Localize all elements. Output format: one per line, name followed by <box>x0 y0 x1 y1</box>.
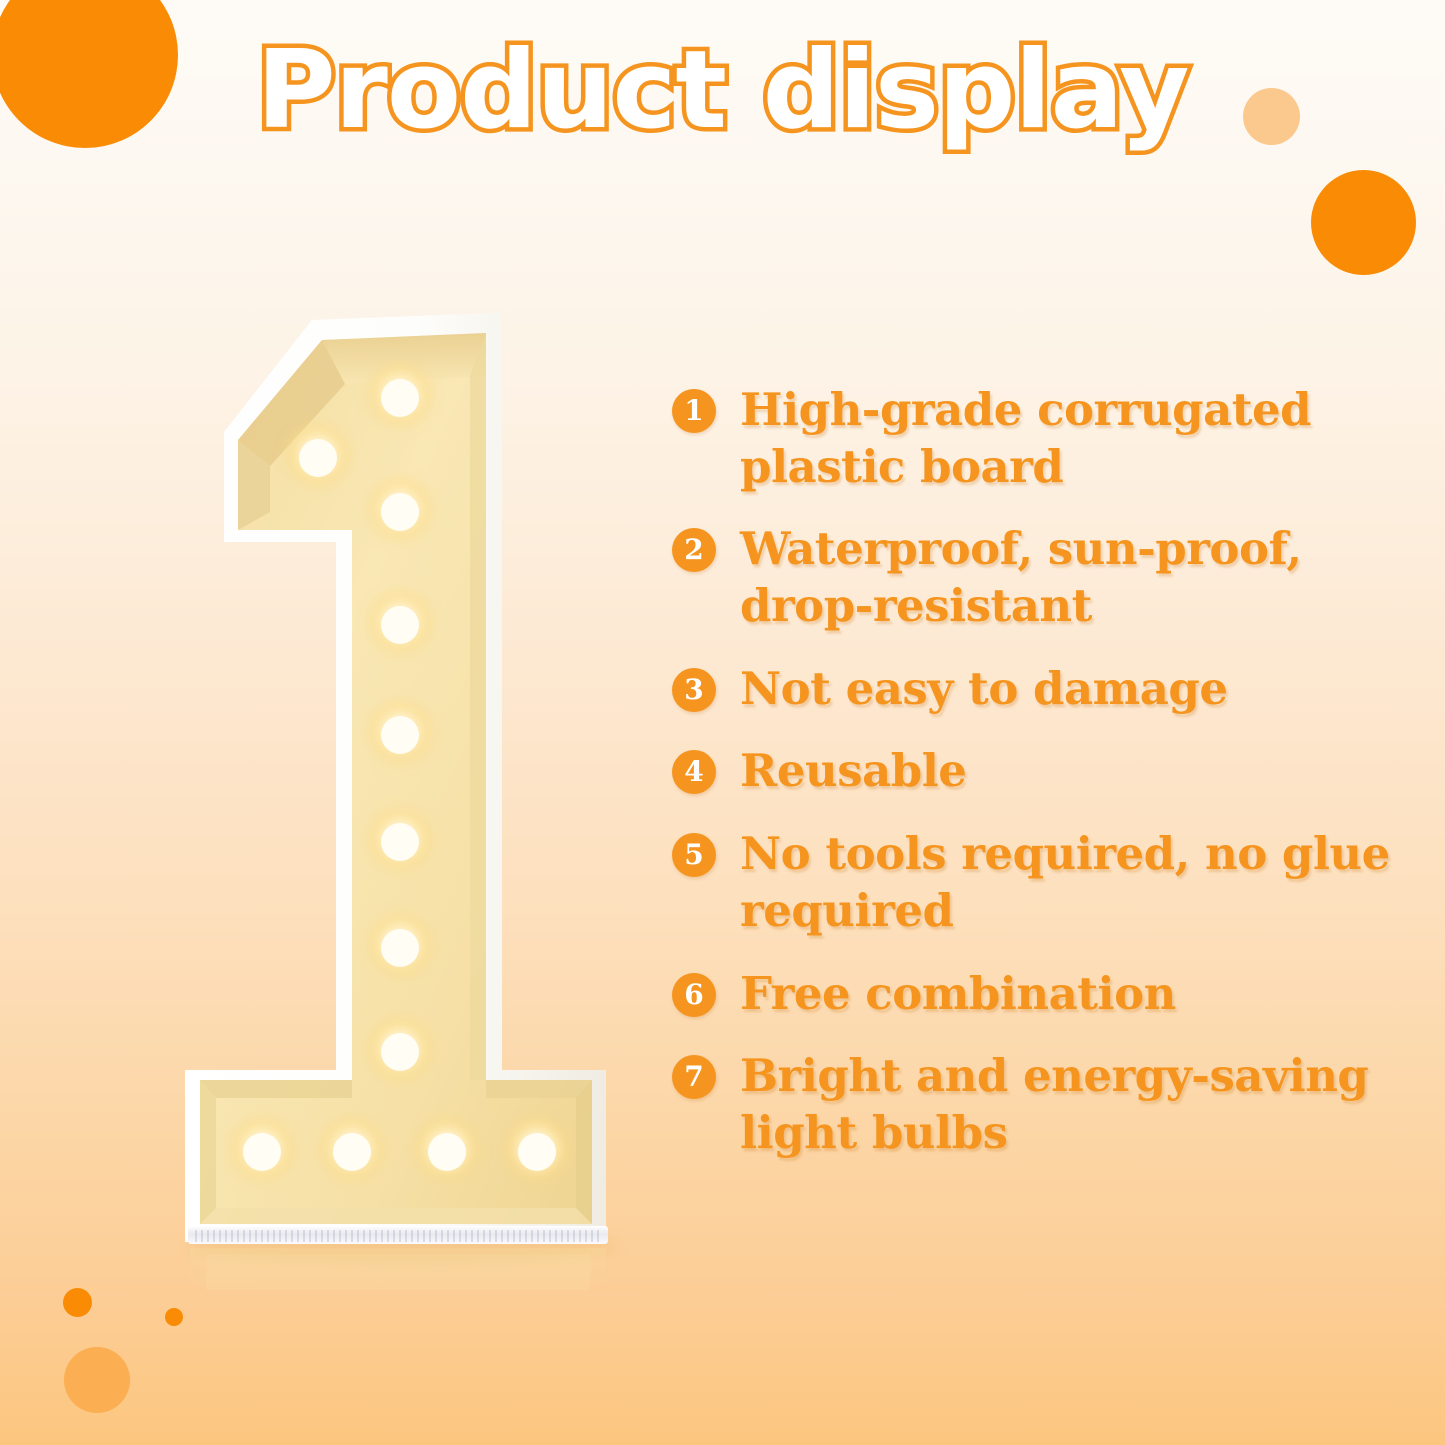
feature-number-badge: 6 <box>672 973 716 1017</box>
bulb <box>228 1118 296 1186</box>
bulb <box>366 808 434 876</box>
feature-number-badge: 2 <box>672 528 716 572</box>
bulb <box>366 701 434 769</box>
bulb <box>318 1118 386 1186</box>
feature-text: High-grade corrugated plastic board <box>740 382 1412 495</box>
decorative-circle-bottom-left-large <box>64 1347 130 1413</box>
product-reflection <box>190 1248 606 1290</box>
list-item: 4 Reusable <box>672 743 1412 800</box>
product-image-marquee-number-1 <box>140 280 660 1290</box>
feature-number-badge: 4 <box>672 750 716 794</box>
product-display-poster: Product display <box>0 0 1445 1445</box>
bulb <box>284 424 352 492</box>
feature-number-badge: 7 <box>672 1055 716 1099</box>
bulb <box>503 1118 571 1186</box>
feature-text: Not easy to damage <box>740 661 1412 718</box>
list-item: 3 Not easy to damage <box>672 661 1412 718</box>
page-title: Product display <box>0 34 1445 147</box>
list-item: 1 High-grade corrugated plastic board <box>672 382 1412 495</box>
bulb <box>366 914 434 982</box>
decorative-circle-bottom-left-tiny <box>165 1308 183 1326</box>
feature-number-badge: 1 <box>672 389 716 433</box>
bulb <box>366 591 434 659</box>
feature-list: 1 High-grade corrugated plastic board 2 … <box>672 382 1412 1188</box>
feature-text: Reusable <box>740 743 1412 800</box>
corrugated-edge-strip <box>188 1226 608 1244</box>
bulb <box>366 364 434 432</box>
feature-text: Bright and energy-saving light bulbs <box>740 1048 1412 1161</box>
bulb <box>366 1018 434 1086</box>
feature-number-badge: 5 <box>672 833 716 877</box>
decorative-circle-bottom-left-small <box>63 1288 92 1317</box>
feature-number-badge: 3 <box>672 668 716 712</box>
list-item: 2 Waterproof, sun-proof, drop-resistant <box>672 521 1412 634</box>
bulb <box>413 1118 481 1186</box>
bulb <box>366 478 434 546</box>
feature-text: No tools required, no glue required <box>740 826 1412 939</box>
decorative-circle-top-right-large <box>1311 170 1416 275</box>
list-item: 7 Bright and energy-saving light bulbs <box>672 1048 1412 1161</box>
feature-text: Waterproof, sun-proof, drop-resistant <box>740 521 1412 634</box>
feature-text: Free combination <box>740 966 1412 1023</box>
list-item: 6 Free combination <box>672 966 1412 1023</box>
list-item: 5 No tools required, no glue required <box>672 826 1412 939</box>
